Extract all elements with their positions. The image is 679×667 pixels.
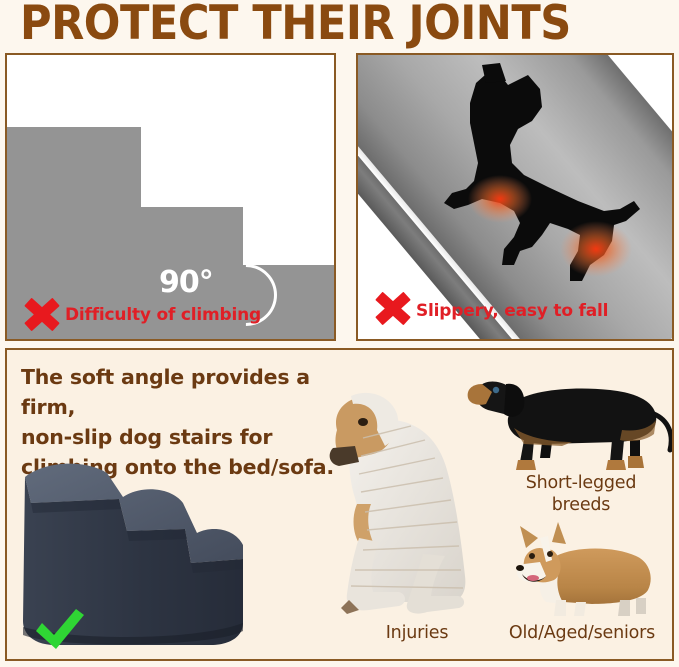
corgi-image xyxy=(502,522,667,622)
panel-solution: The soft angle provides a firm, non-slip… xyxy=(5,348,674,661)
warning-label-slip: Slippery, easy to fall xyxy=(416,301,608,321)
caption-old-aged-seniors: Old/Aged/seniors xyxy=(489,622,674,644)
infographic-root: PROTECT THEIR JOINTS 90° Difficulty of c… xyxy=(0,0,679,667)
injured-dog-image xyxy=(307,378,477,623)
panel-slippery-easy-to-fall: Slippery, easy to fall xyxy=(356,53,674,341)
caption-short-legged-line1: Short-legged xyxy=(501,472,661,494)
blurb-line-1: The soft angle provides a firm, xyxy=(21,362,351,422)
dachshund-image xyxy=(462,358,674,476)
caption-short-legged-line2: breeds xyxy=(501,494,661,516)
caption-injuries: Injuries xyxy=(347,622,487,644)
angle-label: 90° xyxy=(159,265,213,300)
panel-difficulty-of-climbing: 90° Difficulty of climbing xyxy=(5,53,336,341)
x-mark-icon xyxy=(21,293,63,335)
check-mark-icon xyxy=(32,605,88,653)
dog-silhouette-icon xyxy=(382,59,672,293)
warning-label-climb: Difficulty of climbing xyxy=(65,305,261,325)
blurb-line-2: non-slip dog stairs for xyxy=(21,422,351,452)
caption-short-legged-breeds: Short-legged breeds xyxy=(501,472,661,516)
page-title: PROTECT THEIR JOINTS xyxy=(20,0,673,50)
x-mark-icon xyxy=(372,287,414,329)
